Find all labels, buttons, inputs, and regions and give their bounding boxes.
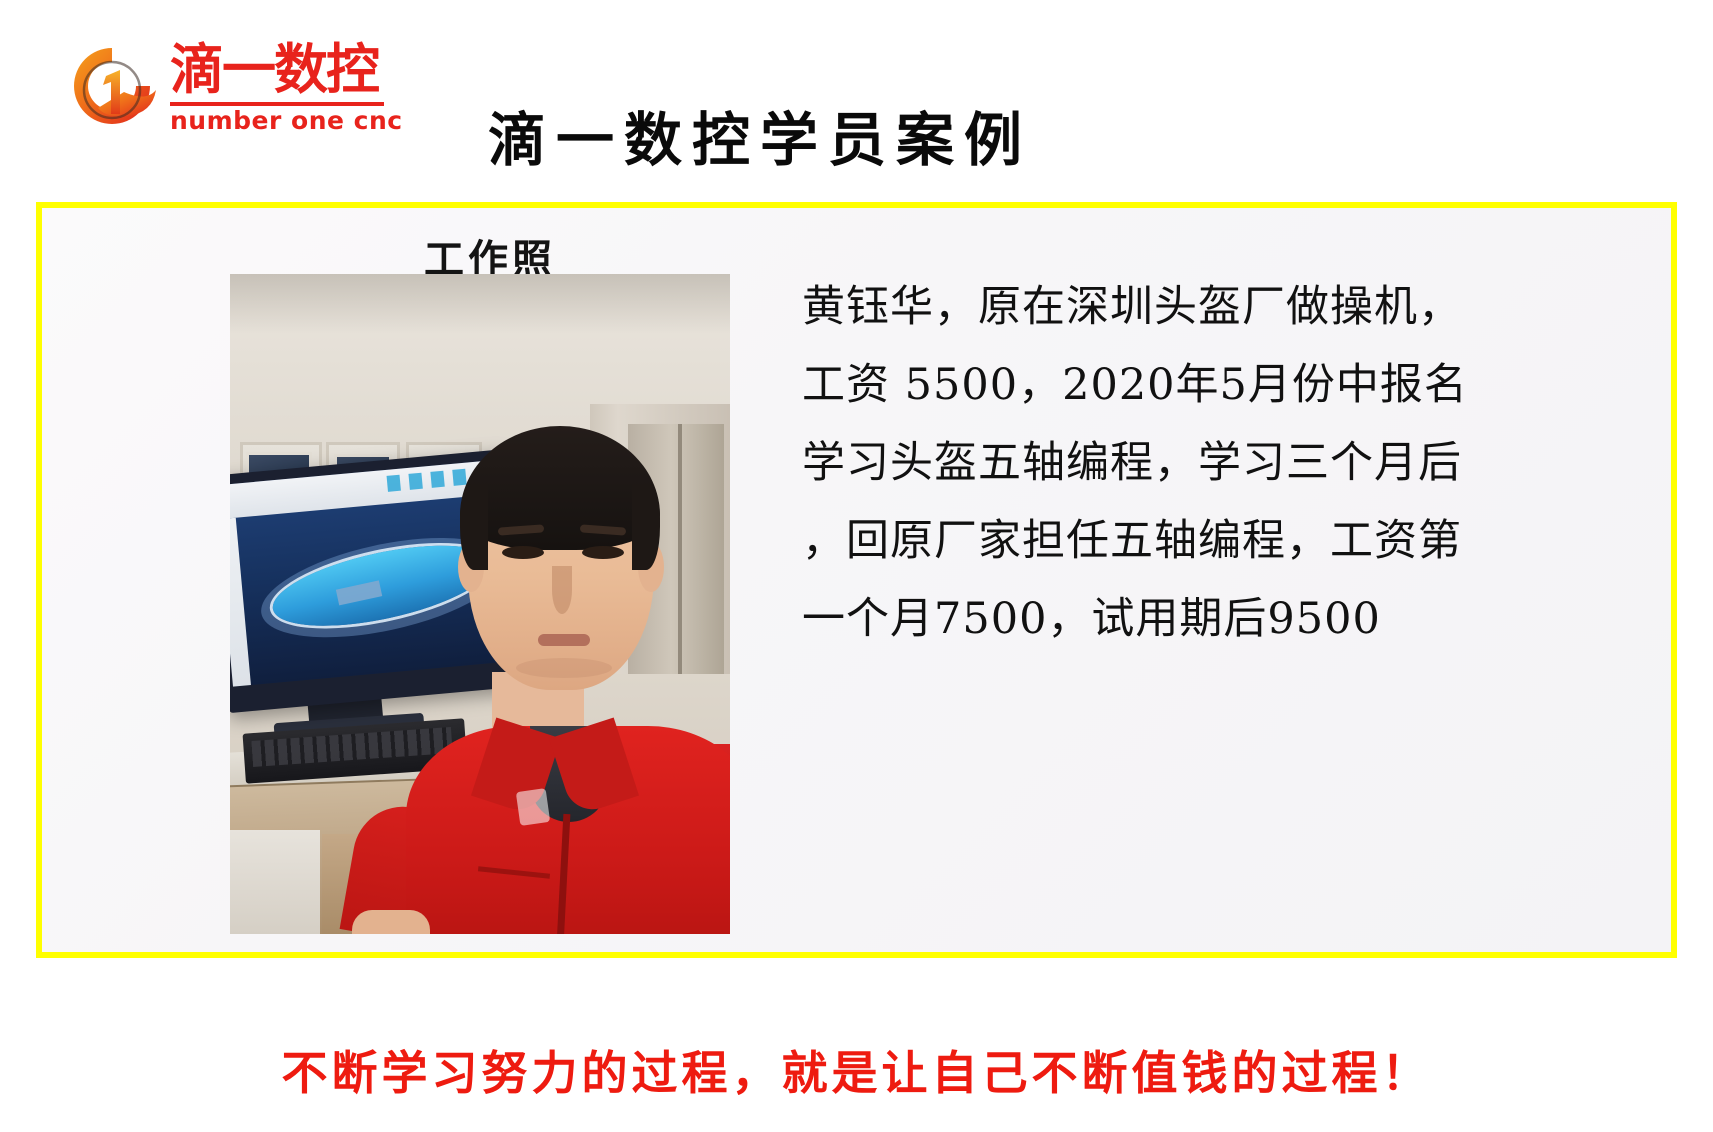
case-description-line: 学习头盔五轴编程，学习三个月后	[802, 424, 1642, 502]
case-card: 工作照	[36, 202, 1677, 958]
photo-person-eye	[582, 546, 624, 559]
photo-chair	[230, 830, 320, 934]
photo-cad-toolbar-button	[387, 475, 401, 492]
photo-person-hair-side	[460, 484, 488, 570]
photo-person-eye	[502, 546, 544, 559]
case-description-line: 一个月7500，试用期后9500	[802, 580, 1642, 658]
case-description-line: ，回原厂家担任五轴编程，工资第	[802, 502, 1642, 580]
photo-cad-toolbar-button	[452, 469, 466, 486]
photo-person-hair-side	[632, 484, 660, 570]
brand-wordmark: 滴一数控 number one cnc	[170, 40, 384, 144]
photo-person-nose	[552, 566, 572, 614]
photo-wall-shadow	[230, 274, 730, 334]
number-one-swirl-icon	[62, 42, 162, 142]
photo-person-chin-shade	[516, 658, 612, 678]
case-description-line: 黄钰华，原在深圳头盔厂做操机，	[802, 268, 1642, 346]
page-header: 滴一数控 number one cnc 滴一数控学员案例	[0, 0, 1713, 200]
brand-name-en: number one cnc	[170, 106, 384, 136]
page-title: 滴一数控学员案例	[440, 104, 1080, 176]
photo-person-hand	[352, 910, 430, 934]
case-description-line: 工资 5500，2020年5月份中报名	[802, 346, 1642, 424]
motivational-caption: 不断学习努力的过程，就是让自己不断值钱的过程！	[0, 1042, 1713, 1104]
photo-cad-toolbar-button	[408, 473, 422, 490]
student-work-photo	[230, 274, 730, 934]
photo-cad-toolbar-button	[430, 471, 444, 488]
case-description: 黄钰华，原在深圳头盔厂做操机， 工资 5500，2020年5月份中报名 学习头盔…	[802, 268, 1642, 658]
photo-person-jacket-logo	[516, 788, 550, 826]
brand-name-cn: 滴一数控	[170, 40, 384, 102]
brand-logo: 滴一数控 number one cnc	[62, 38, 382, 146]
photo-person-mouth	[538, 634, 590, 646]
